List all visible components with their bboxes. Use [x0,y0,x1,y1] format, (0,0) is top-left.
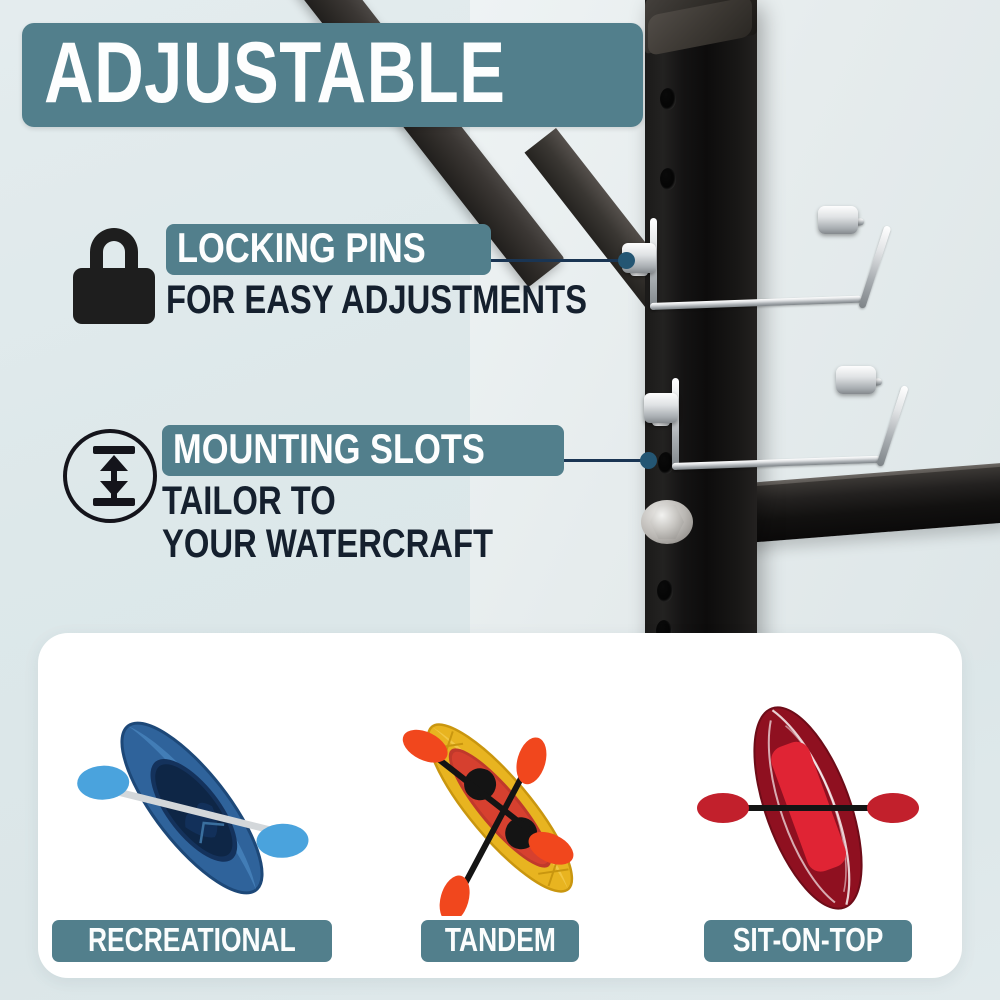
kayak-label-sit-on-top: SIT-ON-TOP [704,920,912,962]
kayak-types-card: RECREATIONAL [38,633,962,978]
mounting-hole [660,88,676,110]
feature-locking-pins-badge-label: LOCKING PINS [177,227,426,269]
locking-pin-head [818,206,858,234]
infographic-canvas: ADJUSTABLE LOCKING PINS FOR EASY ADJUSTM… [0,0,1000,1000]
kayak-label-recreational: RECREATIONAL [52,920,332,962]
height-adjust-icon [58,425,162,523]
padlock-icon [62,224,166,324]
locking-pin-shaft [644,393,678,423]
padlock-body [73,268,155,324]
recreational-kayak-illustration [67,701,317,916]
kayak-label-sit-on-top-text: SIT-ON-TOP [733,923,884,956]
feature-mounting-slots-badge: MOUNTING SLOTS [162,425,564,476]
feature-mounting-slots-subtitle-line-2: YOUR WATERCRAFT [162,523,493,566]
kayak-type-sit-on-top: SIT-ON-TOP [668,701,948,962]
feature-locking-pins-subtitle: FOR EASY ADJUSTMENTS [166,279,679,322]
mounting-hole [657,580,673,602]
feature-locking-pins-badge: LOCKING PINS [166,224,491,275]
page-title: ADJUSTABLE [22,23,643,127]
leader-dot-mounting-slots [640,452,657,469]
mounting-hole [660,168,676,190]
feature-locking-pins-subtitle-line-1: FOR EASY ADJUSTMENTS [166,279,587,322]
pin-wire-left [672,378,679,470]
feature-mounting-slots-badge-label: MOUNTING SLOTS [173,428,485,470]
feature-locking-pins: LOCKING PINS FOR EASY ADJUSTMENTS [62,224,679,324]
page-title-text: ADJUSTABLE [44,30,505,116]
feature-mounting-slots-subtitle-line-1: TAILOR TO [162,480,493,523]
sit-on-top-kayak-svg [683,701,933,916]
feature-mounting-slots-subtitle: TAILOR TO YOUR WATERCRAFT [162,480,566,566]
height-icon-arrow-down [100,481,128,497]
locking-pin-head [836,366,876,394]
kayak-label-tandem-text: TANDEM [445,923,556,956]
kayak-type-recreational: RECREATIONAL [52,701,332,962]
feature-mounting-slots: MOUNTING SLOTS TAILOR TO YOUR WATERCRAFT [58,425,566,566]
kayak-label-recreational-text: RECREATIONAL [88,923,296,956]
kayak-type-tandem: TANDEM [360,701,640,962]
height-icon-top-bar [93,446,135,454]
feature-locking-pins-text: LOCKING PINS FOR EASY ADJUSTMENTS [166,224,679,322]
kayak-label-tandem: TANDEM [421,920,580,962]
sit-on-top-kayak-illustration [683,701,933,916]
tandem-kayak-svg [375,701,625,916]
feature-mounting-slots-text: MOUNTING SLOTS TAILOR TO YOUR WATERCRAFT [162,425,566,566]
height-icon-arrow-up [100,455,128,471]
tandem-kayak-illustration [375,701,625,916]
recreational-kayak-svg [67,701,317,916]
